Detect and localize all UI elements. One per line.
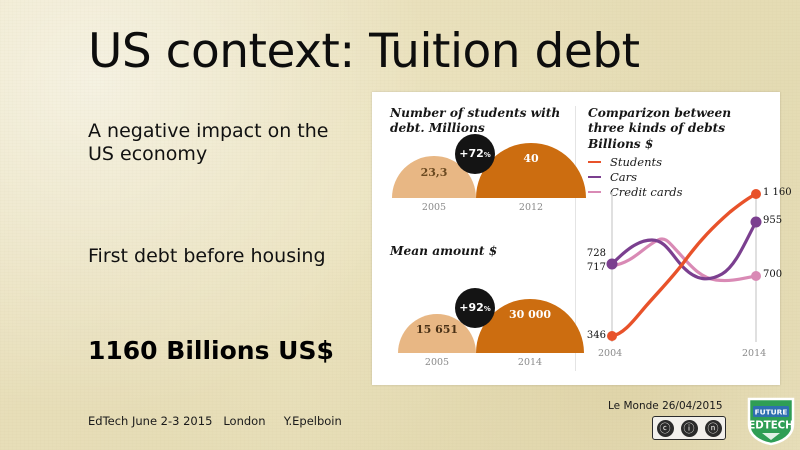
legend-item-students: Students	[588, 154, 682, 169]
change-badge-value-students: 72	[468, 134, 483, 174]
legend-label-students: Students	[610, 155, 662, 169]
page-title: US context: Tuition debt	[88, 27, 728, 76]
value-label-credit-cards-start: 717	[580, 262, 606, 273]
cc-by-icon: ⓘ	[681, 420, 698, 437]
change-badge-mean: +92%	[455, 288, 495, 328]
value-label-cars-end: 955	[763, 215, 782, 226]
change-badge-students: +72%	[455, 134, 495, 174]
cc-sa-icon: ⓝ	[705, 420, 722, 437]
bullet-text-2: First debt before housing	[88, 245, 388, 268]
change-badge-unit-mean: %	[484, 305, 491, 313]
legend-dash-students-icon	[588, 161, 601, 163]
dome-value-2014-mean: 30 000	[500, 308, 560, 321]
dome-value-2012-students: 40	[501, 152, 561, 165]
chart-title-mean-amount: Mean amount $	[390, 244, 570, 259]
chart-title-debt-comparison: Comparizon between three kinds of debts …	[588, 106, 768, 152]
bullet-text-1: A negative impact on the US economy	[88, 120, 388, 166]
change-badge-sign-mean: +	[459, 288, 468, 328]
logo-bottom-word: EDTECH	[748, 421, 793, 432]
line-series-cars	[612, 222, 756, 279]
line-chart-svg	[584, 170, 780, 368]
marker-cars-2004	[607, 259, 618, 270]
dome-year-2012-students: 2012	[501, 202, 561, 213]
marker-students-2004	[607, 331, 617, 341]
dome-year-2005-students: 2005	[404, 202, 464, 213]
infographic-panel: Number of students with debt. Millions 2…	[372, 92, 780, 385]
future-edtech-logo: FUTURE EDTECH	[746, 396, 796, 446]
value-label-students-end: 1 160	[763, 187, 792, 198]
logo-top-word: FUTURE	[755, 408, 788, 417]
marker-students-2014	[751, 189, 761, 199]
line-series-students	[612, 194, 756, 336]
source-credit: Le Monde 26/04/2015	[608, 400, 723, 412]
chart-title-students-with-debt: Number of students with debt. Millions	[390, 106, 570, 137]
change-badge-sign-students: +	[459, 134, 468, 174]
dome-year-2005-mean: 2005	[407, 357, 467, 368]
axis-label-2014: 2014	[742, 348, 766, 359]
dome-value-2005-students: 23,3	[404, 166, 464, 179]
value-label-cars-start: 728	[580, 248, 606, 259]
dome-value-2005-mean: 15 651	[407, 323, 467, 336]
marker-cars-2014	[751, 217, 762, 228]
creative-commons-badge: ⓒ ⓘ ⓝ	[652, 416, 726, 440]
change-badge-value-mean: 92	[468, 288, 483, 328]
change-badge-unit-students: %	[484, 151, 491, 159]
marker-credit-cards-2014	[751, 271, 761, 281]
value-label-credit-cards-end: 700	[763, 269, 782, 280]
cc-logo-icon: ⓒ	[657, 420, 674, 437]
axis-label-2004: 2004	[598, 348, 622, 359]
line-chart-plot: 728 717 346 1 160 955 700 2004 2014	[584, 170, 780, 368]
footer-credit: EdTech June 2-3 2015 London Y.Epelboin	[88, 414, 342, 428]
shield-icon: FUTURE EDTECH	[746, 396, 796, 446]
bullet-text-3-highlight: 1160 Billions US$	[88, 336, 408, 367]
dome-year-2014-mean: 2014	[500, 357, 560, 368]
value-label-students-start: 346	[580, 330, 606, 341]
